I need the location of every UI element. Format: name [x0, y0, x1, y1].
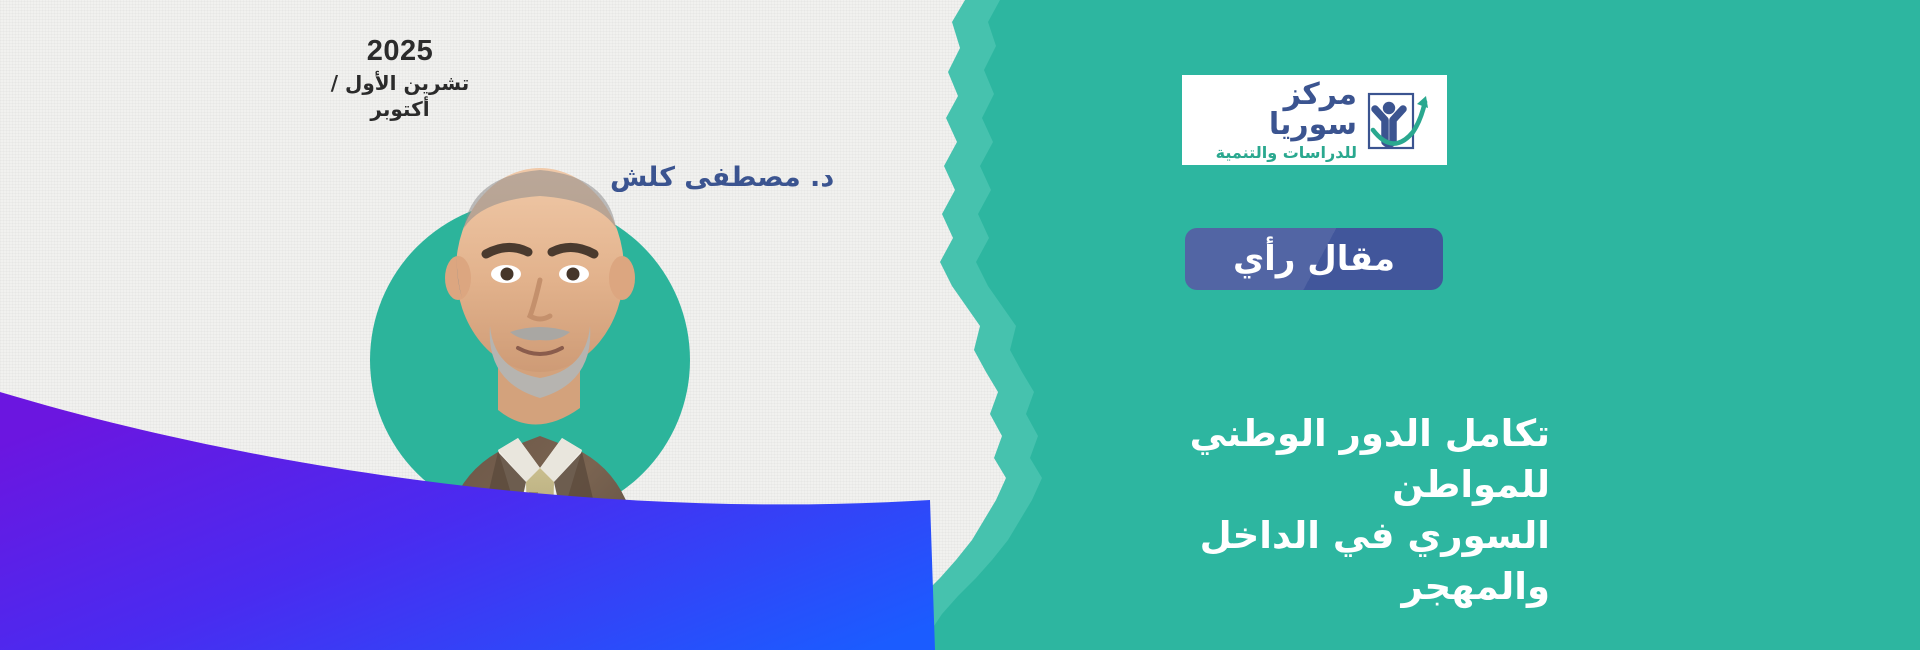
logo-mark-shape: [1363, 84, 1437, 156]
portrait-illustration: [330, 120, 750, 650]
person-arrow-logo-icon: [1363, 84, 1437, 156]
teal-panel-shape: [0, 0, 1920, 650]
badge-label: مقال رأي: [1233, 239, 1395, 279]
logo-name-primary: مركز سوريا: [1190, 80, 1357, 140]
logo-wordmark: مركز سوريا للدراسات والتنمية: [1190, 80, 1357, 161]
headline-line-2: السوري في الداخل والمهجر: [1050, 510, 1550, 612]
date-year: 2025: [300, 36, 500, 68]
organization-logo[interactable]: مركز سوريا للدراسات والتنمية: [1182, 75, 1447, 165]
article-headline: تكامل الدور الوطني للمواطن السوري في الد…: [1050, 408, 1550, 612]
author-portrait: [330, 120, 750, 650]
article-type-badge[interactable]: مقال رأي: [1185, 228, 1443, 290]
publication-date: 2025 تشرين الأول / أكتوبر: [300, 36, 500, 122]
banner-canvas: 2025 تشرين الأول / أكتوبر د. مصطفى كلش م…: [0, 0, 1920, 650]
author-name: د. مصطفى كلش: [610, 162, 834, 193]
teal-panel: [0, 0, 1920, 650]
headline-line-1: تكامل الدور الوطني للمواطن: [1050, 408, 1550, 510]
logo-name-secondary: للدراسات والتنمية: [1190, 145, 1357, 161]
date-month: تشرين الأول / أكتوبر: [300, 70, 500, 122]
